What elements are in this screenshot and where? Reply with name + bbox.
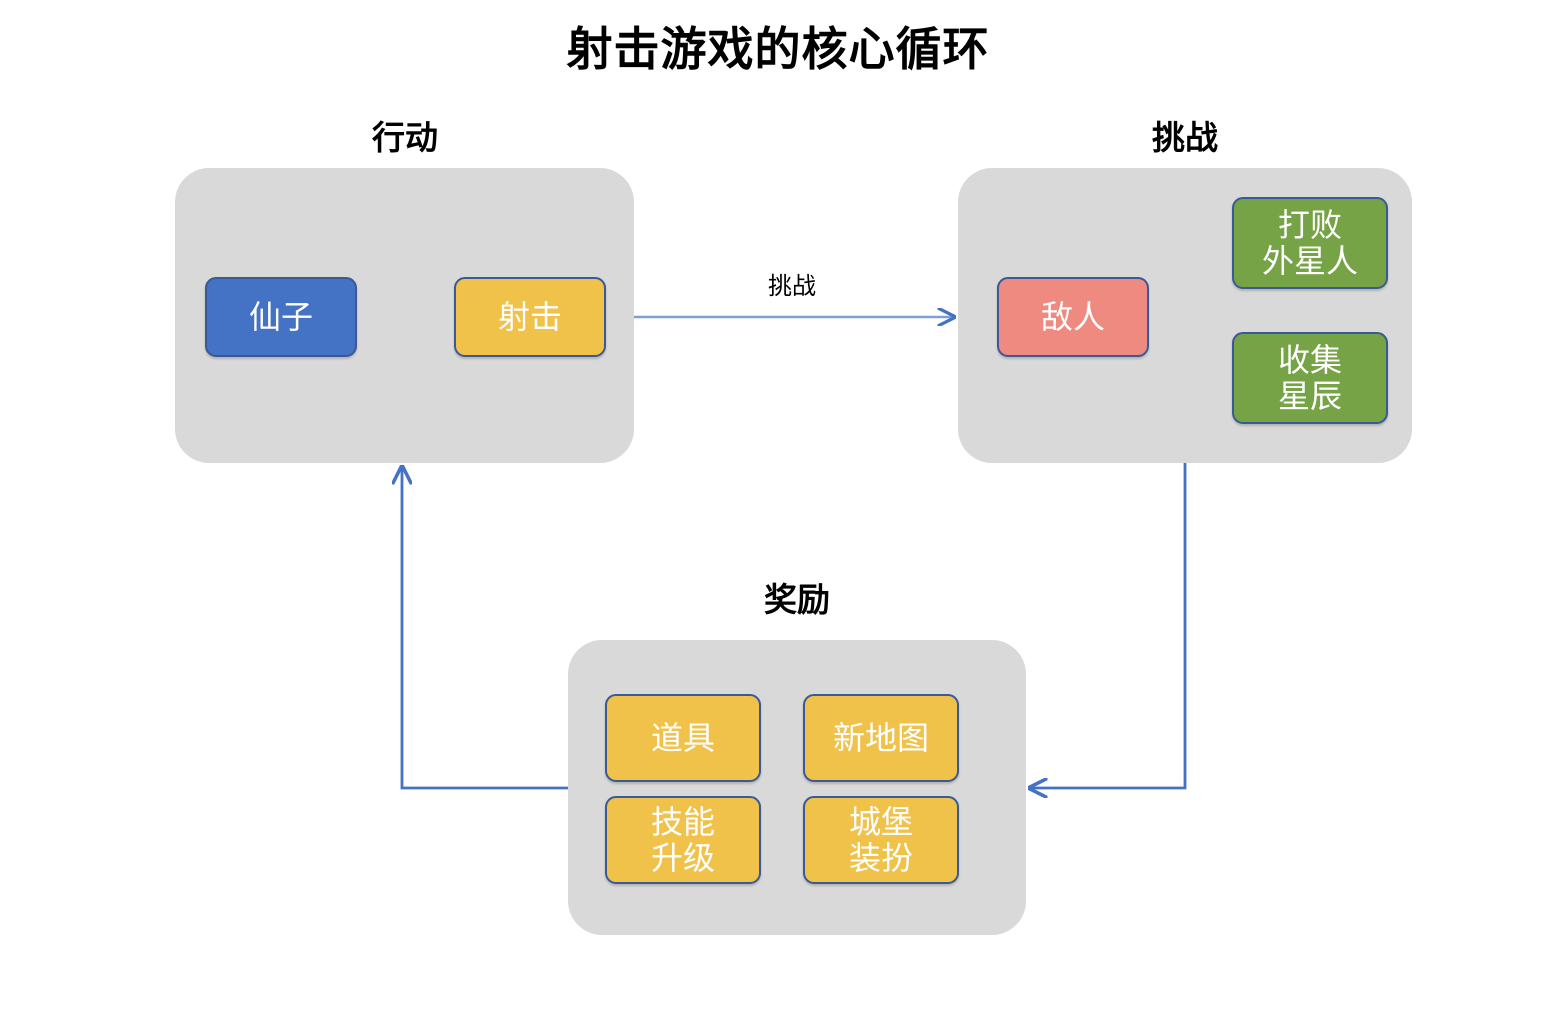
node-enemy[interactable]: 敌人 xyxy=(997,277,1149,357)
node-skill-upgrade[interactable]: 技能 升级 xyxy=(605,796,761,884)
node-new-map[interactable]: 新地图 xyxy=(803,694,959,782)
group-label-challenge: 挑战 xyxy=(1075,118,1295,158)
node-items[interactable]: 道具 xyxy=(605,694,761,782)
diagram-canvas: 射击游戏的核心循环 使用 挑战 行动 仙子 射击 挑战 xyxy=(0,0,1556,1016)
group-box-reward xyxy=(568,640,1026,935)
group-label-action: 行动 xyxy=(295,118,515,158)
node-castle-decor[interactable]: 城堡 装扮 xyxy=(803,796,959,884)
node-fairy[interactable]: 仙子 xyxy=(205,277,357,357)
node-shoot[interactable]: 射击 xyxy=(454,277,606,357)
edge-reward-to-action xyxy=(402,467,568,788)
node-defeat-aliens[interactable]: 打败 外星人 xyxy=(1232,197,1388,289)
edge-challenge-to-reward xyxy=(1030,463,1185,788)
group-label-reward: 奖励 xyxy=(687,580,907,620)
page-title: 射击游戏的核心循环 xyxy=(0,22,1556,77)
edge-label-challenge: 挑战 xyxy=(727,273,857,302)
node-collect-stars[interactable]: 收集 星辰 xyxy=(1232,332,1388,424)
